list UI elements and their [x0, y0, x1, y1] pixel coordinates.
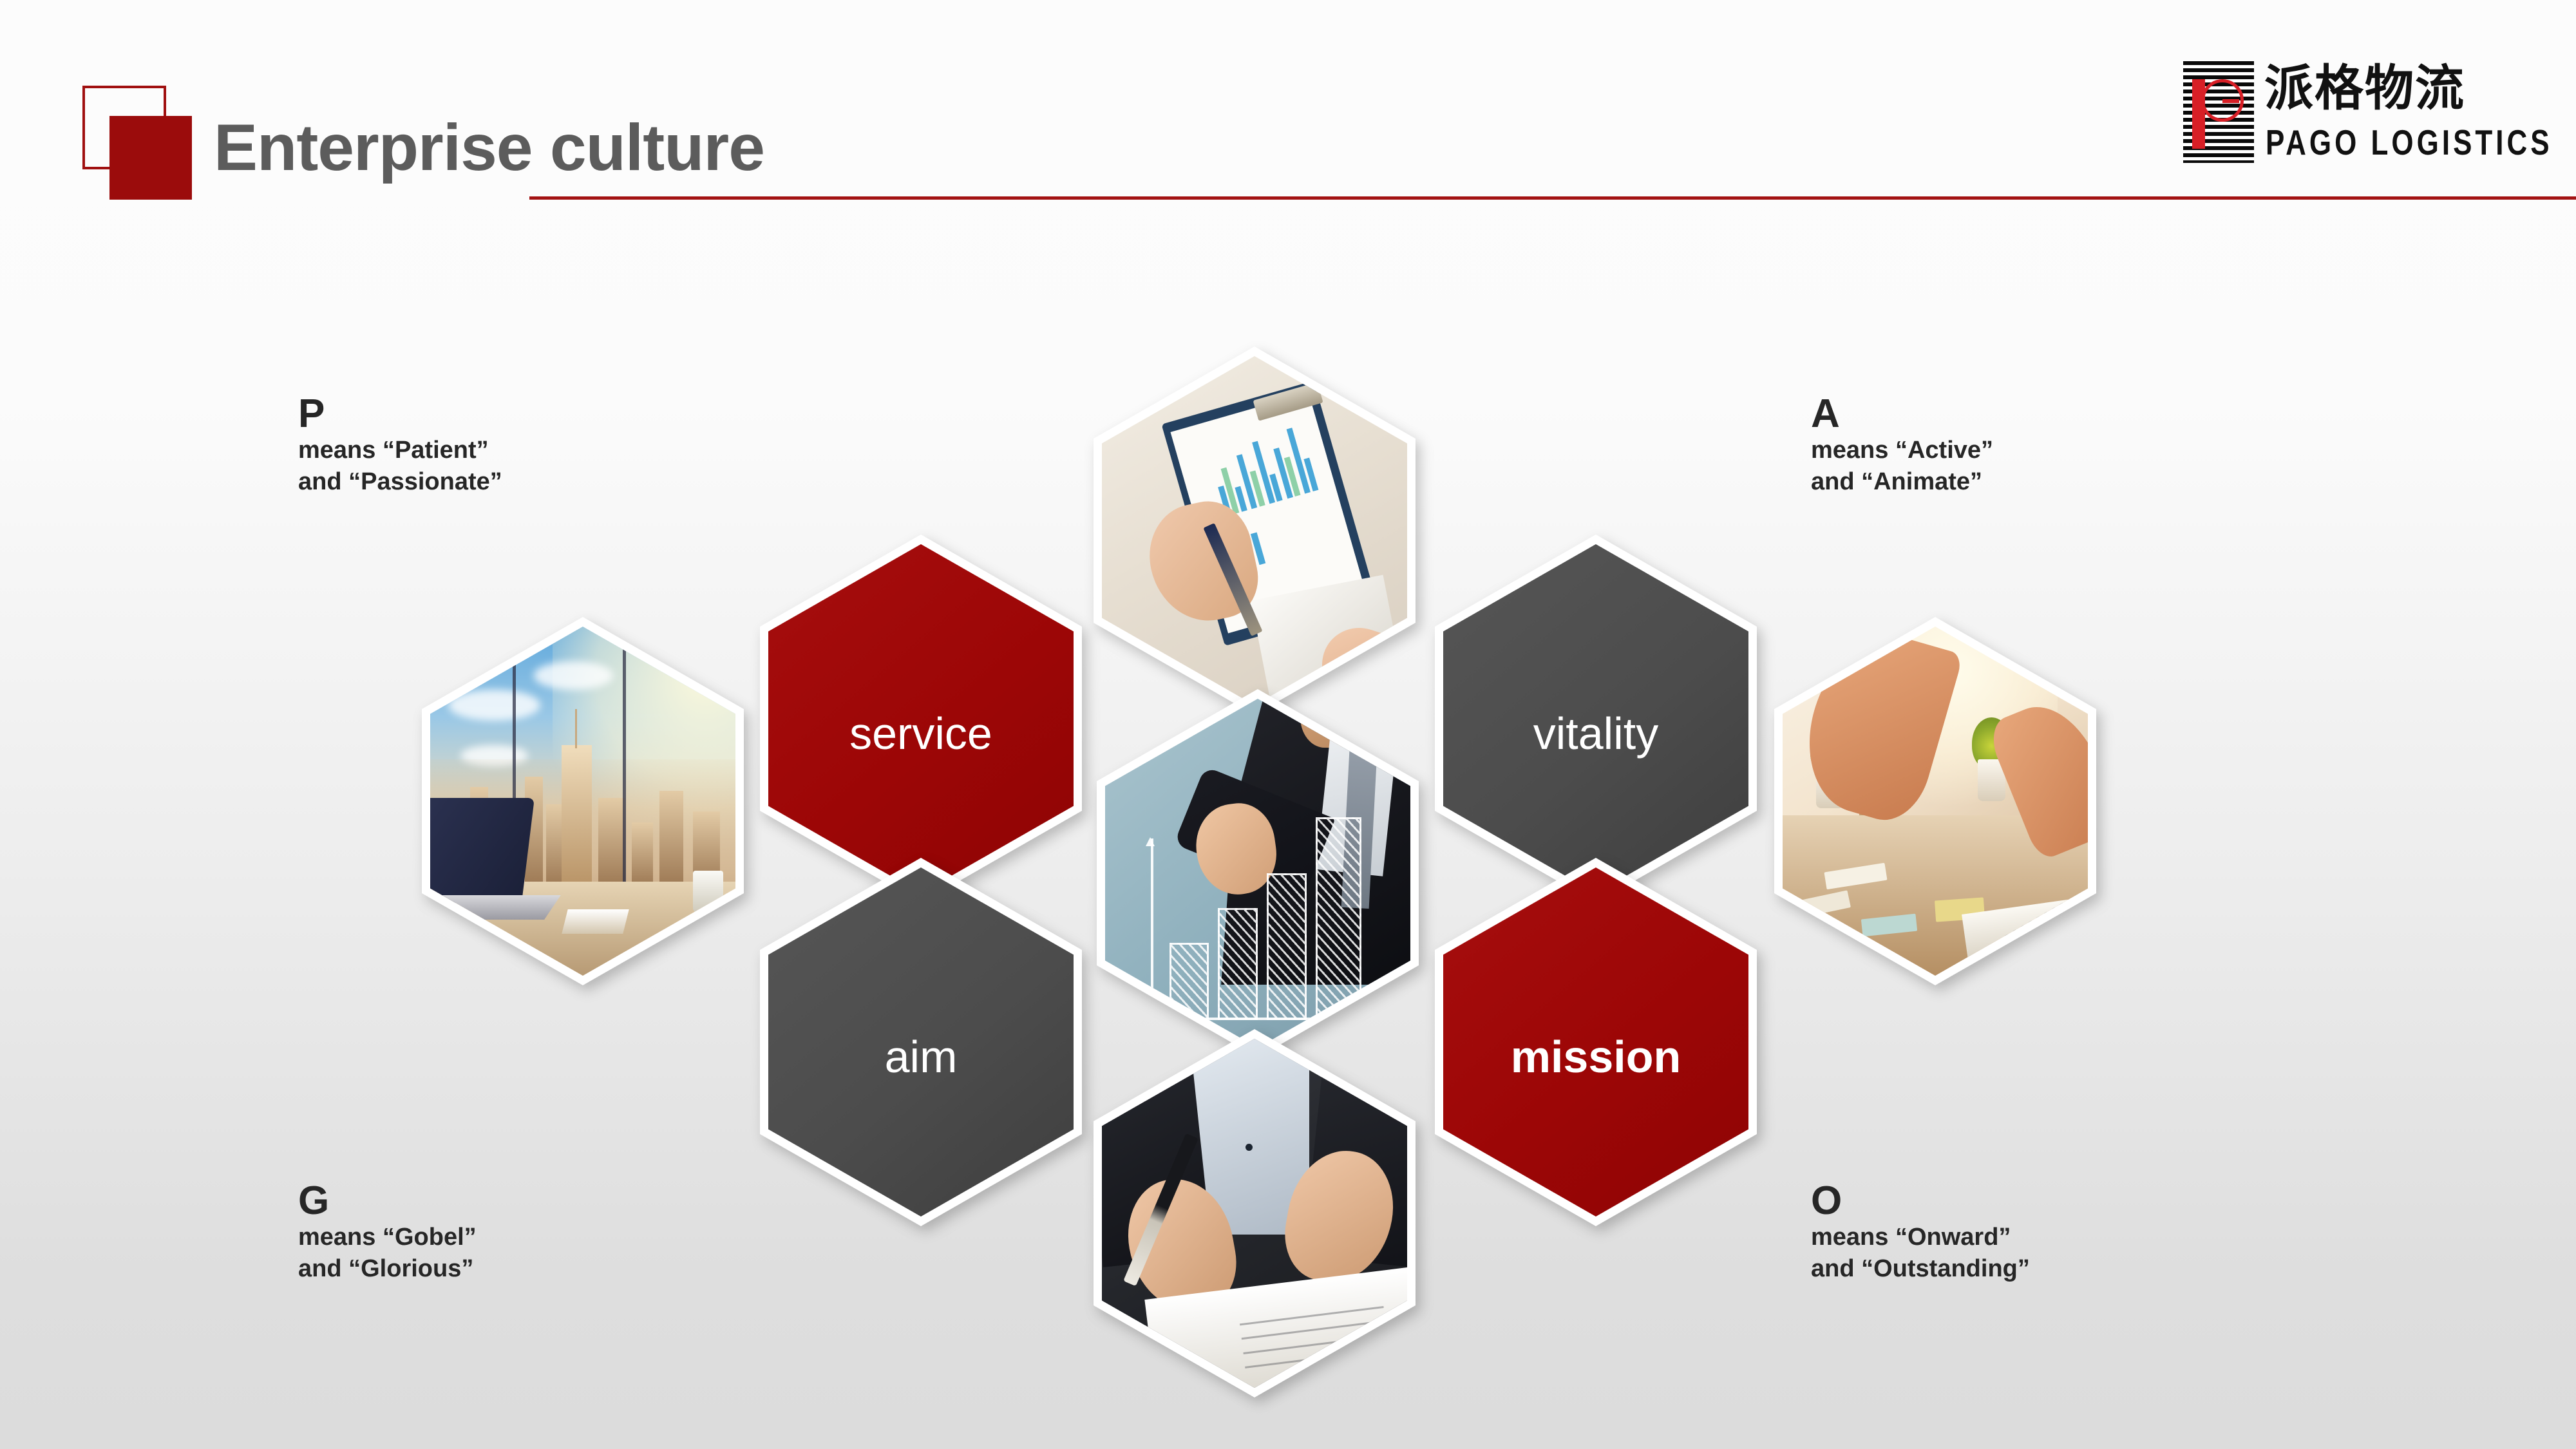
vitality-hexagon-fill	[1443, 544, 1748, 893]
hexagon-aim[interactable]: aim	[760, 858, 1082, 1226]
hexagon-photo-right[interactable]	[1774, 617, 2096, 985]
hexagon-photo-bottom-center[interactable]	[1094, 1029, 1416, 1397]
signing-contract-photo	[1102, 1039, 1407, 1388]
city-skyline-office-laptop-photo	[430, 627, 735, 976]
hexagon-honeycomb-cluster: Bybaido good service vitality	[0, 0, 2576, 1449]
team-hands-desk-notes-photo	[1783, 627, 2088, 976]
aim-hexagon-fill	[768, 867, 1074, 1217]
hexagon-service[interactable]: service	[760, 535, 1082, 903]
hexagon-photo-top-center[interactable]: Bybaido good	[1094, 346, 1416, 715]
hexagon-photo-left[interactable]	[422, 617, 744, 985]
businessman-drawing-growth-chart-photo	[1105, 699, 1410, 1048]
service-hexagon-fill	[768, 544, 1074, 893]
hexagon-photo-center[interactable]	[1097, 689, 1419, 1057]
mission-hexagon-fill	[1443, 867, 1748, 1217]
hexagon-vitality[interactable]: vitality	[1435, 535, 1757, 903]
hexagon-mission[interactable]: mission	[1435, 858, 1757, 1226]
business-analytics-clipboard-photo: Bybaido good	[1102, 356, 1407, 705]
